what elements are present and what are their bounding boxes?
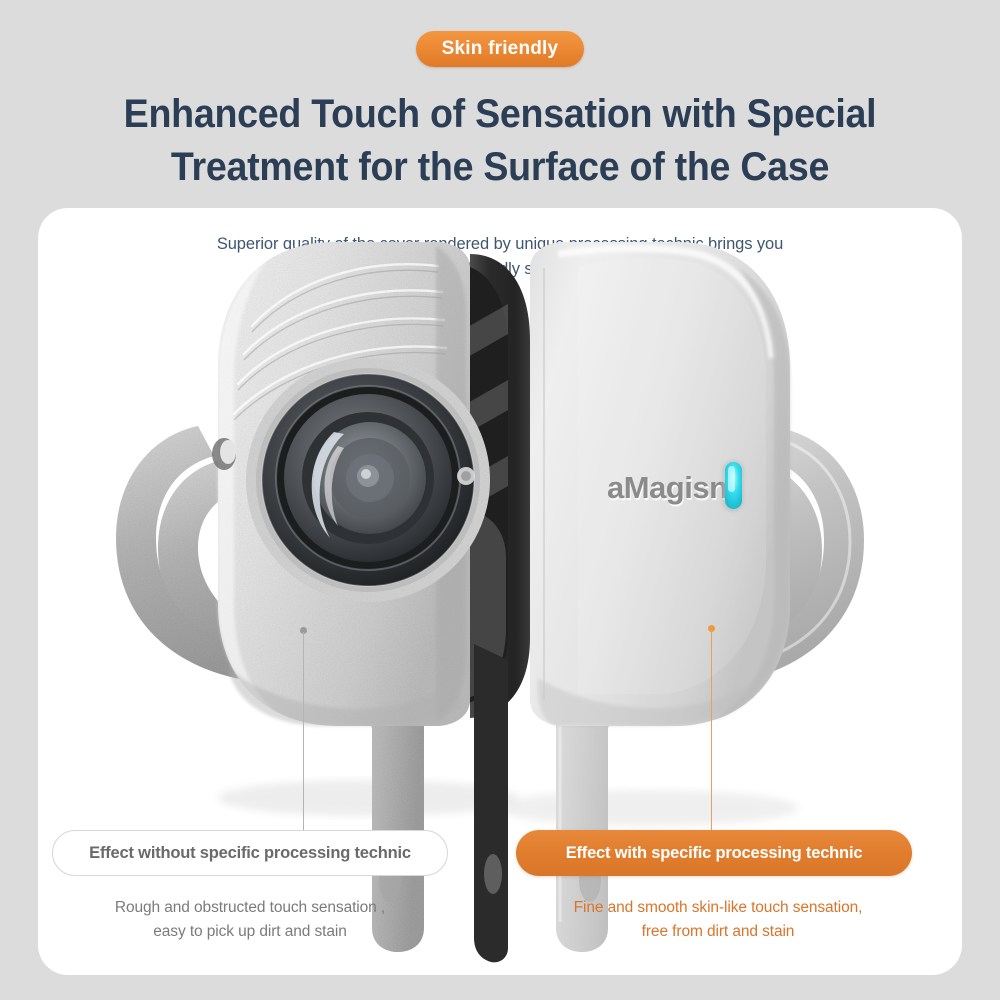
left-effect-caption-line-1: Rough and obstructed touch sensation , (115, 899, 385, 916)
skin-friendly-badge: Skin friendly (416, 31, 585, 67)
right-callout-line (711, 630, 712, 831)
side-port (212, 438, 236, 470)
left-effect-caption-line-2: easy to pick up dirt and stain (153, 923, 346, 940)
left-effect-pill-label: Effect without specific processing techn… (89, 844, 411, 863)
right-effect-caption: Fine and smooth skin-like touch sensatio… (518, 896, 918, 944)
treated-smooth-case-half: aMagisn aMagisn (530, 242, 790, 726)
left-effect-caption: Rough and obstructed touch sensation , e… (50, 896, 450, 944)
left-effect-pill[interactable]: Effect without specific processing techn… (52, 830, 448, 876)
camera-lens (246, 358, 490, 602)
left-callout-line (303, 632, 304, 831)
led-indicator (722, 460, 744, 512)
page-title-line-2: Treatment for the Surface of the Case (30, 141, 970, 194)
right-effect-pill-label: Effect with specific processing technic (566, 844, 863, 863)
untreated-textured-case-half (212, 242, 490, 726)
product-feature-page: Skin friendly Enhanced Touch of Sensatio… (0, 0, 1000, 1000)
badge-container: Skin friendly (0, 31, 1000, 67)
right-effect-pill[interactable]: Effect with specific processing technic (516, 830, 912, 876)
right-effect-caption-line-1: Fine and smooth skin-like touch sensatio… (574, 899, 863, 916)
page-title-line-1: Enhanced Touch of Sensation with Special (124, 92, 877, 136)
right-effect-caption-line-2: free from dirt and stain (642, 923, 795, 940)
brand-logo: aMagisn (607, 470, 728, 505)
page-title: Enhanced Touch of Sensation with Special… (30, 88, 970, 194)
